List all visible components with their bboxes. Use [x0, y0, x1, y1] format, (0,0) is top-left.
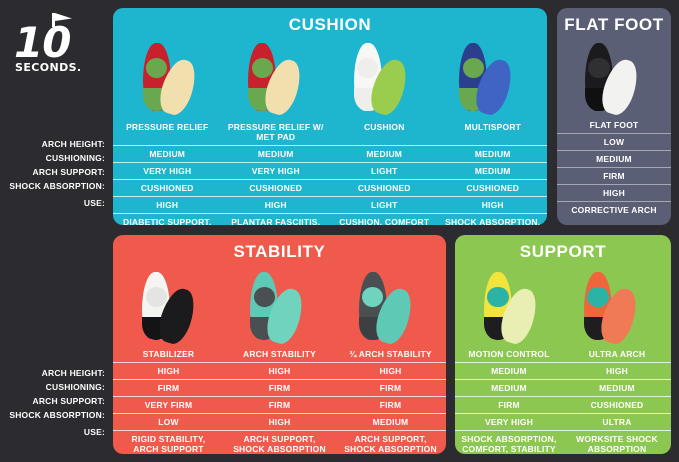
table-row: MEDIUM: [557, 150, 671, 167]
cell-arch-height: HIGH: [224, 363, 335, 379]
brand-digits: 10: [14, 22, 70, 64]
insole-illustration: [480, 270, 546, 346]
arch-pad: [146, 58, 167, 78]
cell-arch-support: FIRM: [224, 397, 335, 413]
cell-arch-support: VERY FIRM: [113, 397, 224, 413]
row-label-2: ARCH SUPPORT:: [0, 394, 110, 408]
row-label-0: ARCH HEIGHT:: [0, 366, 110, 380]
row-labels-top: ARCH HEIGHT:CUSHIONING:ARCH SUPPORT:SHOC…: [0, 137, 110, 213]
insole-illustration: [138, 270, 204, 346]
row-label-3: SHOCK ABSORPTION:: [0, 408, 110, 422]
cell-shock-absorption: HIGH: [439, 197, 548, 213]
cell-use: ARCH SUPPORT, SHOCK ABSORPTION: [335, 431, 446, 454]
cell-shock-absorption: VERY HIGH: [455, 414, 563, 430]
table-row: FIRM: [557, 167, 671, 184]
cell-use: WORKSITE SHOCK ABSORPTION: [563, 431, 671, 454]
table-row: MEDIUMMEDIUMMEDIUMMEDIUM: [113, 145, 547, 162]
cell-arch-height: MEDIUM: [222, 146, 331, 162]
table-row: LOWHIGHMEDIUM: [113, 413, 446, 430]
cell-cushioning: LIGHT: [330, 163, 439, 179]
product-name: PRESSURE RELIEF: [113, 119, 222, 145]
product-name: ¾ ARCH STABILITY: [335, 346, 446, 362]
arch-pad: [588, 58, 609, 78]
insole-illustration: [139, 41, 205, 117]
table-row: MEDIUMHIGH: [455, 362, 671, 379]
table-cushion: PRESSURE RELIEFPRESSURE RELIEF W/ MET PA…: [113, 119, 547, 225]
row-label-1: CUSHIONING:: [0, 151, 110, 165]
cell-shock-absorption: MEDIUM: [335, 414, 446, 430]
row-label-4: USE:: [0, 193, 110, 213]
cell-cushioning: MEDIUM: [439, 163, 548, 179]
table-header-row: MOTION CONTROLULTRA ARCH: [455, 346, 671, 362]
cell-arch-support: FIRM: [557, 168, 671, 184]
cell-arch-height: HIGH: [113, 363, 224, 379]
panel-cushion: CUSHION PRESSURE RELIEFPRESSURE RELIEF W…: [113, 8, 547, 225]
product-name: MULTISPORT: [439, 119, 548, 145]
table-row: MEDIUMMEDIUM: [455, 379, 671, 396]
arch-pad: [587, 287, 608, 307]
table-row: LOW: [557, 133, 671, 150]
insole-illustration: [581, 41, 647, 117]
insole-illustration: [580, 270, 646, 346]
arch-pad: [146, 287, 167, 307]
insole-illustration: [246, 270, 312, 346]
cell-use: CUSHION, COMFORT: [330, 214, 439, 225]
table-row: FIRMFIRMFIRM: [113, 379, 446, 396]
panel-title-cushion: CUSHION: [113, 8, 547, 35]
cell-cushioning: FIRM: [113, 380, 224, 396]
product-name: FLAT FOOT: [557, 117, 671, 133]
arch-pad: [357, 58, 378, 78]
cell-arch-support: FIRM: [335, 397, 446, 413]
table-row: HIGHHIGHLIGHTHIGH: [113, 196, 547, 213]
table-stability: STABILIZERARCH STABILITY¾ ARCH STABILITY…: [113, 346, 446, 454]
cell-use: ARCH SUPPORT, SHOCK ABSORPTION: [224, 431, 335, 454]
cell-arch-height: MEDIUM: [455, 363, 563, 379]
cell-arch-height: MEDIUM: [330, 146, 439, 162]
panel-stability: STABILITY STABILIZERARCH STABILITY¾ ARCH…: [113, 235, 446, 454]
row-labels-bottom: ARCH HEIGHT:CUSHIONING:ARCH SUPPORT:SHOC…: [0, 366, 110, 442]
table-row: RIGID STABILITY, ARCH SUPPORTARCH SUPPOR…: [113, 430, 446, 454]
product-name: CUSHION: [330, 119, 439, 145]
table-row: CUSHIONEDCUSHIONEDCUSHIONEDCUSHIONED: [113, 179, 547, 196]
table-support: MOTION CONTROLULTRA ARCHMEDIUMHIGHMEDIUM…: [455, 346, 671, 454]
cell-use: SHOCK ABSORPTION, COMFORT, STABILITY: [455, 431, 563, 454]
cell-shock-absorption: HIGH: [224, 414, 335, 430]
table-header-row: STABILIZERARCH STABILITY¾ ARCH STABILITY: [113, 346, 446, 362]
product-name: ULTRA ARCH: [563, 346, 671, 362]
cell-arch-height: MEDIUM: [439, 146, 548, 162]
table-row: VERY HIGHVERY HIGHLIGHTMEDIUM: [113, 162, 547, 179]
cell-use: CORRECTIVE ARCH: [557, 202, 671, 218]
cell-arch-support: CUSHIONED: [113, 180, 222, 196]
product-name: PRESSURE RELIEF W/ MET PAD: [222, 119, 331, 145]
panel-support: SUPPORT MOTION CONTROLULTRA ARCHMEDIUMHI…: [455, 235, 671, 454]
cell-cushioning: VERY HIGH: [113, 163, 222, 179]
panel-title-support: SUPPORT: [455, 235, 671, 262]
cell-shock-absorption: HIGH: [222, 197, 331, 213]
arch-pad: [463, 58, 484, 78]
cell-arch-support: FIRM: [455, 397, 563, 413]
infographic-root: 10 SECONDS. ARCH HEIGHT:CUSHIONING:ARCH …: [0, 0, 679, 462]
cell-arch-support: CUSHIONED: [330, 180, 439, 196]
table-row: SHOCK ABSORPTION, COMFORT, STABILITYWORK…: [455, 430, 671, 454]
table-header-row: FLAT FOOT: [557, 117, 671, 133]
insole-illustration: [244, 41, 310, 117]
cell-arch-support: CUSHIONED: [222, 180, 331, 196]
table-row: HIGH: [557, 184, 671, 201]
row-label-2: ARCH SUPPORT:: [0, 165, 110, 179]
table-row: VERY FIRMFIRMFIRM: [113, 396, 446, 413]
cell-arch-height: HIGH: [335, 363, 446, 379]
cell-cushioning: MEDIUM: [563, 380, 671, 396]
table-header-row: PRESSURE RELIEFPRESSURE RELIEF W/ MET PA…: [113, 119, 547, 145]
arch-pad: [362, 287, 383, 307]
arch-pad: [254, 287, 275, 307]
brand-subtitle: SECONDS.: [15, 62, 82, 73]
insole-illustration: [355, 270, 421, 346]
cell-shock-absorption: LIGHT: [330, 197, 439, 213]
shoe-strip-flat-foot: [557, 35, 671, 117]
product-name: ARCH STABILITY: [224, 346, 335, 362]
row-label-0: ARCH HEIGHT:: [0, 137, 110, 151]
cell-shock-absorption: HIGH: [113, 197, 222, 213]
cell-cushioning: MEDIUM: [455, 380, 563, 396]
shoe-strip-cushion: [113, 35, 547, 117]
row-label-4: USE:: [0, 422, 110, 442]
shoe-strip-support: [455, 262, 671, 346]
product-name: MOTION CONTROL: [455, 346, 563, 362]
table-flat-foot: FLAT FOOTLOWMEDIUMFIRMHIGHCORRECTIVE ARC…: [557, 117, 671, 218]
cell-cushioning: FIRM: [335, 380, 446, 396]
row-label-3: SHOCK ABSORPTION:: [0, 179, 110, 193]
cell-use: SHOCK ABSORPTION, STABILITY, COMFORT: [439, 214, 548, 225]
table-row: CORRECTIVE ARCH: [557, 201, 671, 218]
arch-pad: [252, 58, 273, 78]
cell-cushioning: FIRM: [224, 380, 335, 396]
arch-pad: [487, 287, 508, 307]
panel-title-stability: STABILITY: [113, 235, 446, 262]
insole-illustration: [455, 41, 521, 117]
panel-flat-foot: FLAT FOOT FLAT FOOTLOWMEDIUMFIRMHIGHCORR…: [557, 8, 671, 225]
cell-cushioning: MEDIUM: [557, 151, 671, 167]
cell-arch-support: CUSHIONED: [563, 397, 671, 413]
cell-arch-height: HIGH: [563, 363, 671, 379]
cell-arch-height: MEDIUM: [113, 146, 222, 162]
product-name: STABILIZER: [113, 346, 224, 362]
table-row: DIABETIC SUPPORT, CUSTOM COMFORTPLANTAR …: [113, 213, 547, 225]
shoe-strip-stability: [113, 262, 446, 346]
row-label-1: CUSHIONING:: [0, 380, 110, 394]
cell-use: RIGID STABILITY, ARCH SUPPORT: [113, 431, 224, 454]
cell-arch-height: LOW: [557, 134, 671, 150]
table-row: VERY HIGHULTRA: [455, 413, 671, 430]
panel-title-flat-foot: FLAT FOOT: [557, 8, 671, 35]
table-row: FIRMCUSHIONED: [455, 396, 671, 413]
cell-shock-absorption: HIGH: [557, 185, 671, 201]
cell-use: DIABETIC SUPPORT, CUSTOM COMFORT: [113, 214, 222, 225]
cell-shock-absorption: LOW: [113, 414, 224, 430]
cell-cushioning: VERY HIGH: [222, 163, 331, 179]
insole-illustration: [350, 41, 416, 117]
cell-use: PLANTAR FASCIITIS, MORTON'S NEUROMA: [222, 214, 331, 225]
cell-arch-support: CUSHIONED: [439, 180, 548, 196]
brand-logo: 10 SECONDS.: [14, 12, 88, 74]
cell-shock-absorption: ULTRA: [563, 414, 671, 430]
table-row: HIGHHIGHHIGH: [113, 362, 446, 379]
